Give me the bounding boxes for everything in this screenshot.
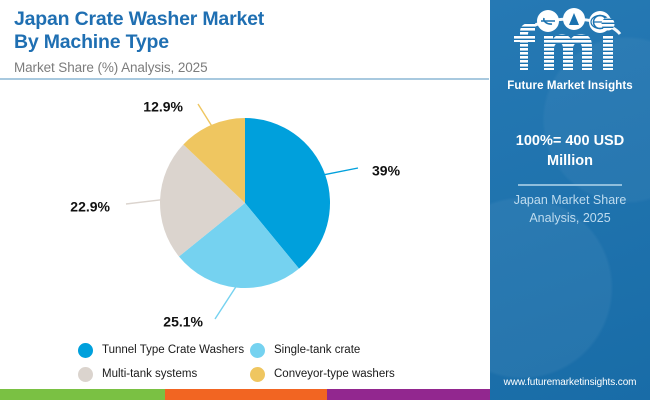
legend: Tunnel Type Crate WashersSingle-tank cra… — [78, 338, 478, 386]
panel-total-value: 100%= 400 USD Million — [500, 132, 640, 171]
bottom-color-bar — [0, 389, 490, 400]
header: Japan Crate Washer Market By Machine Typ… — [14, 8, 484, 75]
pie-data-label: 12.9% — [143, 99, 183, 115]
bottom-bar-segment — [165, 389, 327, 400]
legend-item-label: Single-tank crate — [274, 344, 360, 356]
pie-leader-line — [215, 286, 237, 319]
pie-data-label: 22.9% — [70, 199, 110, 215]
legend-item[interactable]: Single-tank crate — [250, 343, 422, 358]
pie-chart: 39%25.1%22.9%12.9% — [0, 85, 489, 335]
panel-divider — [518, 184, 622, 186]
legend-item[interactable]: Multi-tank systems — [78, 367, 250, 382]
pie-leader-line — [198, 104, 212, 127]
pie-data-label: 25.1% — [163, 314, 203, 330]
website-url: www.futuremarketinsights.com — [490, 377, 650, 388]
bottom-bar-segment — [0, 389, 165, 400]
legend-item[interactable]: Conveyor-type washers — [250, 367, 422, 382]
legend-color-swatch — [250, 367, 265, 382]
pie-data-label: 39% — [372, 163, 401, 179]
page-subtitle: Market Share (%) Analysis, 2025 — [14, 60, 484, 75]
logo-icon-circles — [537, 8, 611, 33]
legend-item-label: Multi-tank systems — [102, 368, 197, 380]
legend-item-label: Conveyor-type washers — [274, 368, 395, 380]
fmi-logo: Future Market Insights — [490, 8, 650, 92]
pie-chart-svg: 39%25.1%22.9%12.9% — [0, 85, 489, 335]
infographic-page: Japan Crate Washer Market By Machine Typ… — [0, 0, 650, 400]
legend-item[interactable]: Tunnel Type Crate Washers — [78, 343, 250, 358]
pie-leader-line — [323, 168, 358, 175]
pie-leader-line — [126, 200, 162, 204]
legend-item-label: Tunnel Type Crate Washers — [102, 344, 244, 356]
pie-slices — [160, 118, 330, 288]
logo-text: Future Market Insights — [490, 80, 650, 92]
header-divider — [0, 78, 489, 80]
fmi-logo-mark — [504, 8, 636, 74]
legend-color-swatch — [78, 343, 93, 358]
legend-color-swatch — [250, 343, 265, 358]
bottom-bar-segment — [327, 389, 490, 400]
page-title: Japan Crate Washer Market By Machine Typ… — [14, 8, 484, 54]
side-panel: Future Market Insights 100%= 400 USD Mil… — [490, 0, 650, 400]
panel-caption: Japan Market Share Analysis, 2025 — [502, 192, 638, 227]
legend-color-swatch — [78, 367, 93, 382]
